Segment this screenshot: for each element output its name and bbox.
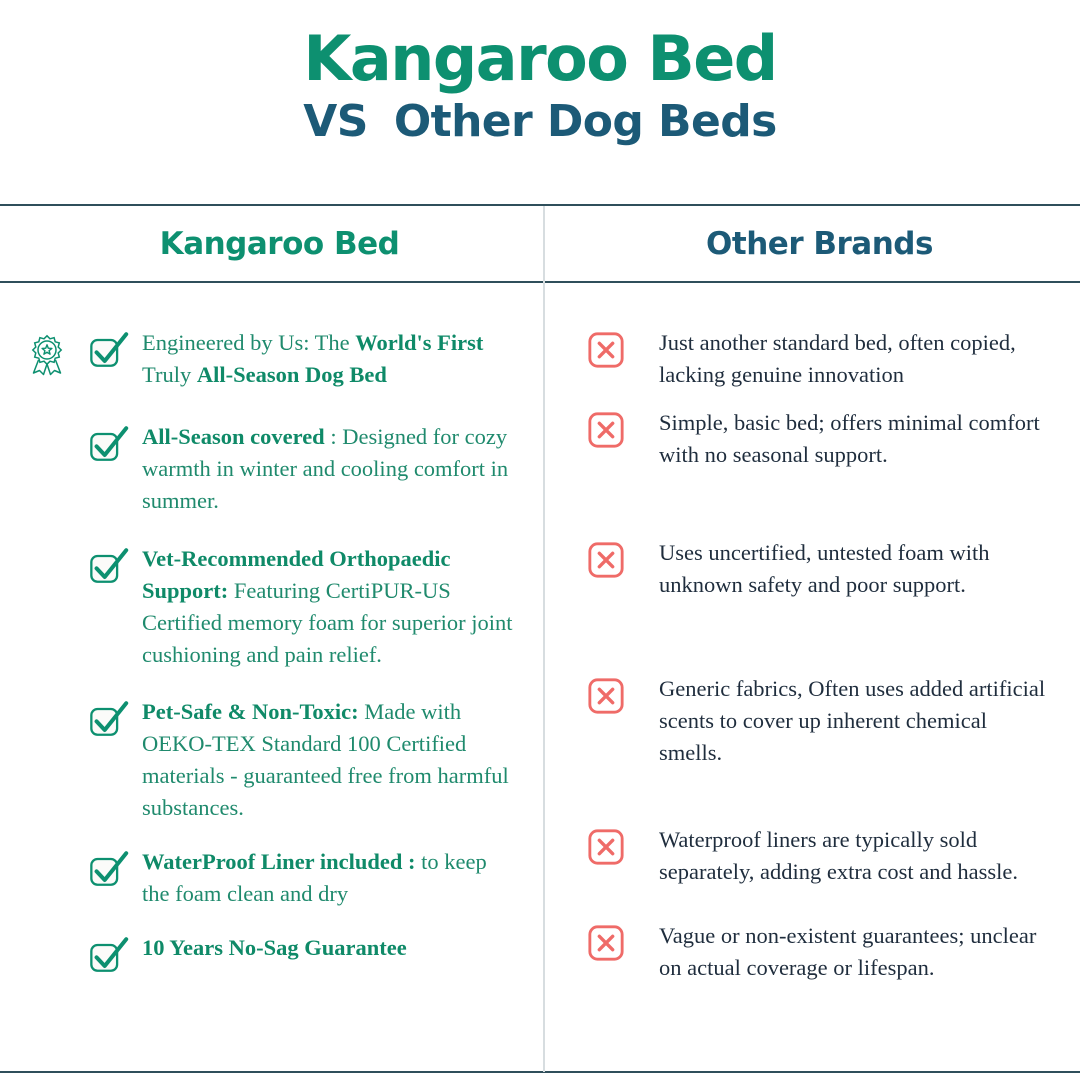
other-brands-column: Just another standard bed, often copied,… — [543, 283, 1080, 1071]
cross-square-icon — [587, 824, 653, 866]
check-square-icon — [78, 846, 140, 890]
page-subtitle: VSOther Dog Beds — [0, 97, 1080, 148]
drawback-row: Uses uncertified, untested foam with unk… — [587, 537, 1046, 601]
feature-row: Vet-Recommended Orthopaedic Support: Fea… — [16, 543, 513, 671]
drawback-text: Simple, basic bed; offers minimal comfor… — [653, 407, 1046, 471]
comparison-body: Engineered by Us: The World's First Trul… — [0, 283, 1080, 1071]
drawback-row: Just another standard bed, often copied,… — [587, 327, 1046, 391]
check-square-icon — [78, 932, 140, 976]
feature-text: All-Season covered : Designed for cozy w… — [140, 421, 513, 517]
check-square-icon — [78, 543, 140, 587]
cross-square-icon — [587, 920, 653, 962]
feature-row: WaterProof Liner included : to keep the … — [16, 846, 513, 910]
drawback-text: Vague or non-existent guarantees; unclea… — [653, 920, 1046, 984]
feature-text: Vet-Recommended Orthopaedic Support: Fea… — [140, 543, 513, 671]
drawback-text: Generic fabrics, Often uses added artifi… — [653, 673, 1046, 769]
drawback-text: Waterproof liners are typically sold sep… — [653, 824, 1046, 888]
cross-square-icon — [587, 407, 653, 449]
bottom-rule — [0, 1071, 1080, 1073]
other-dog-beds-label: Other Dog Beds — [394, 96, 777, 147]
feature-text: 10 Years No-Sag Guarantee — [140, 932, 513, 964]
drawback-row: Waterproof liners are typically sold sep… — [587, 824, 1046, 888]
check-square-icon — [78, 696, 140, 740]
page-title: Kangaroo Bed — [0, 26, 1080, 91]
drawback-text: Uses uncertified, untested foam with unk… — [653, 537, 1046, 601]
drawback-row: Generic fabrics, Often uses added artifi… — [587, 673, 1046, 769]
cross-square-icon — [587, 673, 653, 715]
column-header-kangaroo: Kangaroo Bed — [0, 206, 551, 281]
drawback-row: Simple, basic bed; offers minimal comfor… — [587, 407, 1046, 471]
cross-square-icon — [587, 327, 653, 369]
drawback-row: Vague or non-existent guarantees; unclea… — [587, 920, 1046, 984]
drawback-text: Just another standard bed, often copied,… — [653, 327, 1046, 391]
check-square-icon — [78, 421, 140, 465]
column-headers: Kangaroo Bed Other Brands — [0, 206, 1080, 281]
feature-text: Engineered by Us: The World's First Trul… — [140, 327, 513, 391]
check-square-icon — [78, 327, 140, 371]
comparison-infographic: Kangaroo Bed VSOther Dog Beds Kangaroo B… — [0, 0, 1080, 1080]
award-ribbon-icon — [16, 327, 78, 377]
cross-square-icon — [587, 537, 653, 579]
kangaroo-bed-column: Engineered by Us: The World's First Trul… — [0, 283, 543, 1071]
column-header-other: Other Brands — [551, 206, 1080, 281]
feature-row: Pet-Safe & Non-Toxic: Made with OEKO-TEX… — [16, 696, 513, 824]
feature-row: 10 Years No-Sag Guarantee — [16, 932, 513, 982]
feature-row: All-Season covered : Designed for cozy w… — [16, 421, 513, 517]
feature-text: Pet-Safe & Non-Toxic: Made with OEKO-TEX… — [140, 696, 513, 824]
feature-text: WaterProof Liner included : to keep the … — [140, 846, 513, 910]
title-block: Kangaroo Bed VSOther Dog Beds — [0, 0, 1080, 148]
vs-label: VS — [303, 96, 368, 147]
feature-row: Engineered by Us: The World's First Trul… — [16, 327, 513, 391]
